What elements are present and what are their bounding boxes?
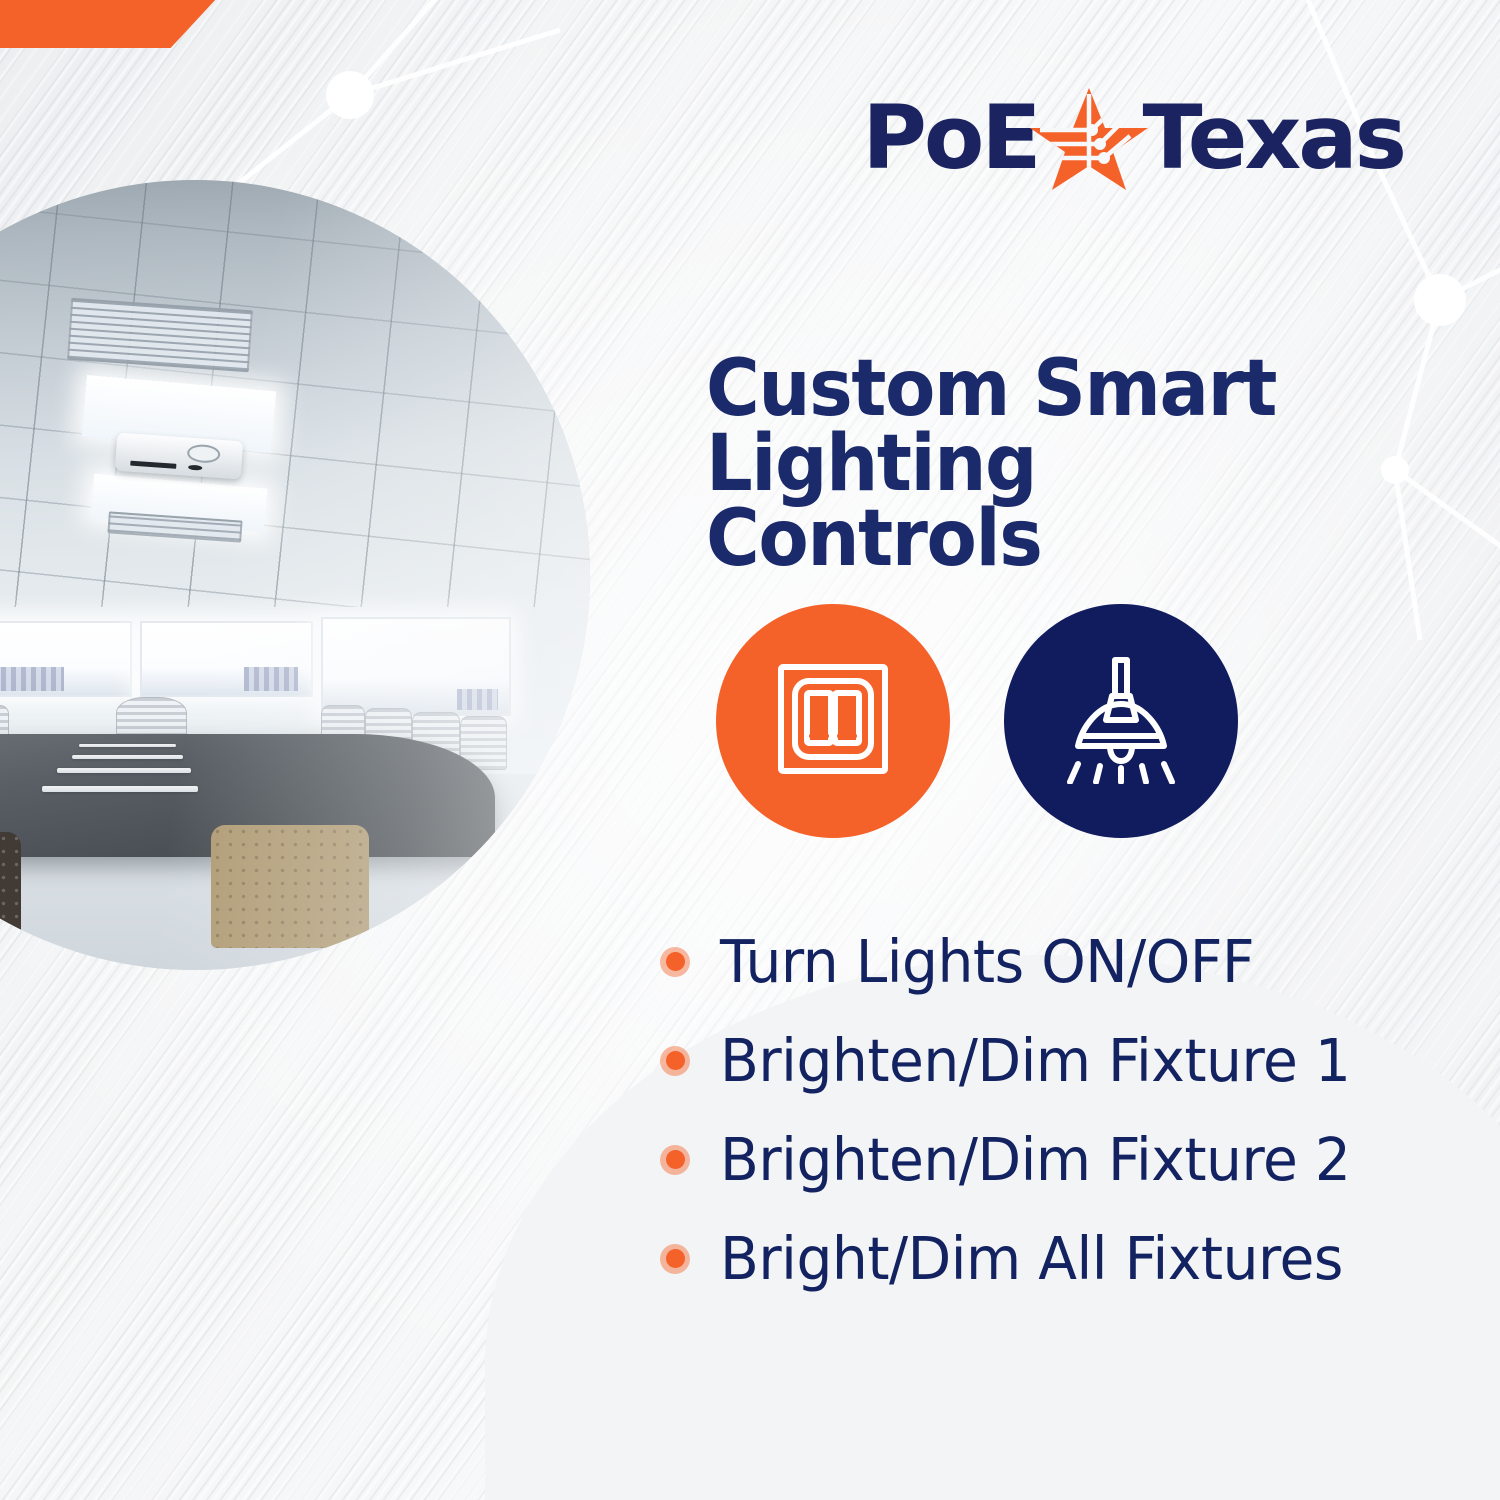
headline-line-2: Lighting Controls xyxy=(706,427,1392,577)
page-title: Custom Smart Lighting Controls xyxy=(706,352,1392,577)
logo-text-poe: PoE xyxy=(862,94,1038,182)
feature-bullet-list: Turn Lights ON/OFF Brighten/Dim Fixture … xyxy=(660,912,1450,1308)
star-circuit-icon xyxy=(1030,86,1148,190)
list-item: Brighten/Dim Fixture 2 xyxy=(660,1110,1450,1209)
bullet-label: Brighten/Dim Fixture 2 xyxy=(720,1130,1350,1189)
feature-icon-switch-circle[interactable] xyxy=(716,604,950,838)
list-item: Turn Lights ON/OFF xyxy=(660,912,1450,1011)
bullet-label: Brighten/Dim Fixture 1 xyxy=(720,1031,1350,1090)
brand-logo[interactable]: PoE xyxy=(862,88,1404,188)
bullet-label: Turn Lights ON/OFF xyxy=(720,932,1254,991)
feature-icon-lamp-circle[interactable] xyxy=(1004,604,1238,838)
bullet-label: Bright/Dim All Fixtures xyxy=(720,1229,1343,1288)
list-item: Brighten/Dim Fixture 1 xyxy=(660,1011,1450,1110)
photo-edge-fade xyxy=(0,180,590,970)
bullet-dot-icon xyxy=(660,947,690,977)
feature-icon-row xyxy=(716,604,1238,838)
poster-canvas: PoE xyxy=(0,0,1500,1500)
light-switch-icon xyxy=(773,659,893,784)
office-conference-room-ceiling-photo xyxy=(0,180,590,970)
pendant-lamp-icon xyxy=(1056,654,1186,789)
bullet-dot-icon xyxy=(660,1046,690,1076)
bullet-dot-icon xyxy=(660,1244,690,1274)
logo-text-texas: Texas xyxy=(1142,94,1404,182)
list-item: Bright/Dim All Fixtures xyxy=(660,1209,1450,1308)
bullet-dot-icon xyxy=(660,1145,690,1175)
